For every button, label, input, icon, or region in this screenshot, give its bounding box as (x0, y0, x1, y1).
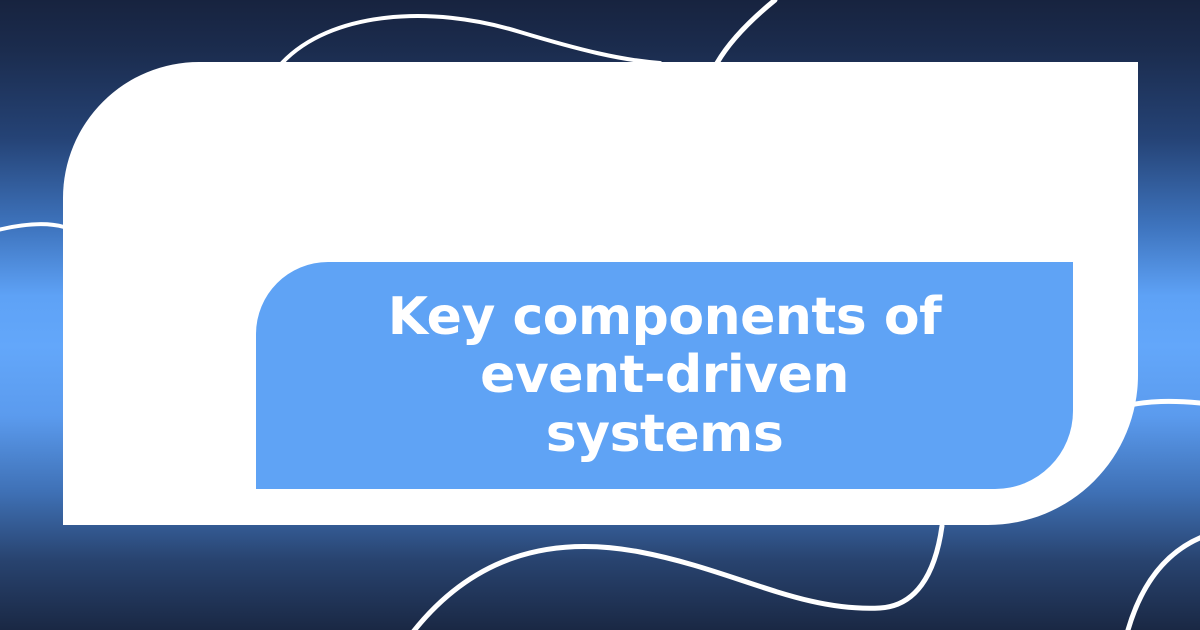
top-right-diagonal-line (717, 0, 775, 63)
bottom-left-tail-line (1128, 534, 1200, 630)
title-plate: Key components of event-driven systems (256, 262, 1073, 489)
banner-canvas: Key components of event-driven systems (0, 0, 1200, 630)
bottom-s-curve-line (413, 526, 942, 630)
top-arc-line (282, 16, 660, 63)
left-small-arc-line (0, 224, 64, 232)
page-title: Key components of event-driven systems (365, 288, 965, 463)
content-card: Key components of event-driven systems (63, 62, 1138, 525)
